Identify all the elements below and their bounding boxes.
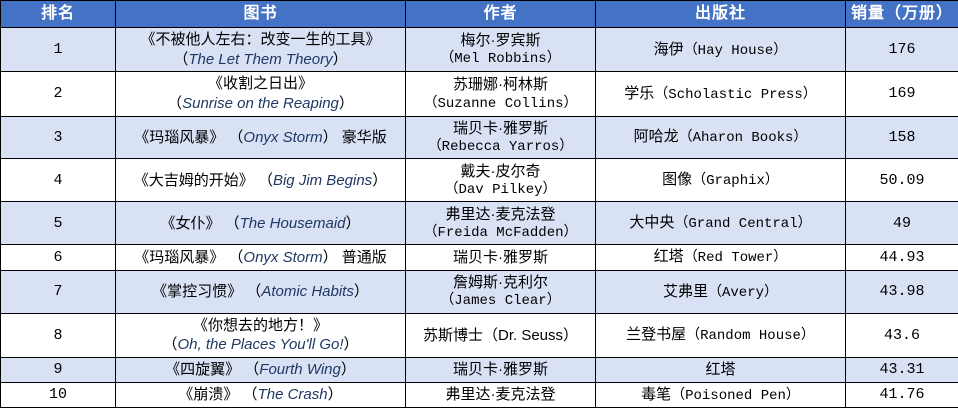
column-header-sales: 销量（万册） (846, 1, 958, 28)
cell-publisher: 兰登书屋（Random House） (596, 313, 846, 357)
publisher-name-cn: 学乐 (624, 85, 654, 102)
author-name-cn: 弗里达·麦克法登 (409, 205, 592, 225)
cell-book-title: 《玛瑙风暴》 （Onyx Storm） 豪华版 (116, 116, 406, 159)
author-name-cn: 戴夫·皮尔奇 (409, 162, 592, 182)
cell-publisher: 红塔 (596, 357, 846, 382)
english-title: The Housemaid (240, 215, 346, 232)
english-title: Onyx Storm (243, 249, 322, 266)
cell-book-title: 《你想去的地方！》（Oh, the Places You'll Go!） (116, 313, 406, 357)
table-row: 5《女仆》 （The Housemaid）弗里达·麦克法登（Freida McF… (1, 202, 958, 245)
author-name-en: （Rebecca Yarros） (409, 138, 592, 156)
author-name-en: （Mel Robbins） (409, 50, 592, 68)
english-title: The Crash (258, 386, 328, 403)
author-name-en: （Suzanne Collins） (409, 95, 592, 113)
publisher-name-cn: 阿哈龙 (634, 128, 679, 145)
cell-rank: 1 (1, 28, 116, 72)
publisher-name-cn: 红塔 (705, 361, 735, 378)
book-title-en: （Sunrise on the Reaping） (119, 94, 402, 114)
book-title-en: （The Housemaid） (220, 215, 360, 232)
book-title-en: （The Crash） (238, 386, 342, 403)
column-header-author: 作者 (406, 1, 596, 28)
publisher-name-cn: 艾弗里 (663, 283, 708, 300)
author-name-cn: 弗里达·麦克法登 (446, 386, 556, 403)
author-name-en: （James Clear） (409, 292, 592, 310)
cell-rank: 2 (1, 72, 116, 116)
cell-book-title: 《四旋翼》 （Fourth Wing） (116, 357, 406, 382)
table-row: 8《你想去的地方！》（Oh, the Places You'll Go!）苏斯博… (1, 313, 958, 357)
book-title-cn: 《四旋翼》 (165, 361, 240, 378)
author-name-cn: 瑞贝卡·雅罗斯 (453, 249, 548, 266)
table-header: 排名 图书 作者 出版社 销量（万册） (1, 1, 958, 28)
column-header-rank: 排名 (1, 1, 116, 28)
cell-book-title: 《玛瑙风暴》 （Onyx Storm） 普通版 (116, 245, 406, 270)
book-title-cn: 《掌控习惯》 (152, 283, 242, 300)
publisher-name-cn: 海伊 (654, 41, 684, 58)
cell-author: 戴夫·皮尔奇（Dav Pilkey） (406, 159, 596, 202)
cell-sales: 43.98 (846, 270, 958, 313)
author-name-cn: 瑞贝卡·雅罗斯 (453, 361, 548, 378)
book-title-en: （Onyx Storm） 普通版 (224, 249, 387, 266)
cell-rank: 4 (1, 159, 116, 202)
cell-sales: 44.93 (846, 245, 958, 270)
english-title: Fourth Wing (259, 361, 341, 378)
publisher-name-cn: 兰登书屋 (626, 326, 686, 343)
book-title-en: （The Let Them Theory） (119, 50, 402, 70)
table-row: 1《不被他人左右：改变一生的工具》（The Let Them Theory）梅尔… (1, 28, 958, 72)
cell-author: 瑞贝卡·雅罗斯 (406, 357, 596, 382)
english-title: Oh, the Places You'll Go! (177, 336, 343, 353)
cell-sales: 43.31 (846, 357, 958, 382)
cell-author: 梅尔·罗宾斯（Mel Robbins） (406, 28, 596, 72)
cell-author: 瑞贝卡·雅罗斯（Rebecca Yarros） (406, 116, 596, 159)
cell-author: 瑞贝卡·雅罗斯 (406, 245, 596, 270)
cell-rank: 6 (1, 245, 116, 270)
cell-book-title: 《崩溃》 （The Crash） (116, 382, 406, 407)
cell-sales: 50.09 (846, 159, 958, 202)
column-header-publisher: 出版社 (596, 1, 846, 28)
publisher-name-en: （Scholastic Press） (654, 87, 816, 103)
cell-sales: 158 (846, 116, 958, 159)
bestseller-book-table: 排名 图书 作者 出版社 销量（万册） 1《不被他人左右：改变一生的工具》（Th… (0, 0, 958, 408)
publisher-name-cn: 红塔 (654, 248, 684, 265)
publisher-name-en: （Red Tower） (684, 250, 788, 266)
publisher-name-en: （Aharon Books） (679, 130, 808, 146)
english-title: Sunrise on the Reaping (182, 95, 339, 112)
cell-author: 苏珊娜·柯林斯（Suzanne Collins） (406, 72, 596, 116)
cell-publisher: 海伊（Hay House） (596, 28, 846, 72)
cell-book-title: 《掌控习惯》 （Atomic Habits） (116, 270, 406, 313)
table-row: 7《掌控习惯》 （Atomic Habits）詹姆斯·克利尔（James Cle… (1, 270, 958, 313)
cell-author: 弗里达·麦克法登 (406, 382, 596, 407)
cell-author: 苏斯博士（Dr. Seuss） (406, 313, 596, 357)
table-row: 10《崩溃》 （The Crash）弗里达·麦克法登毒笔（Poisoned Pe… (1, 382, 958, 407)
publisher-name-cn: 大中央 (629, 214, 674, 231)
book-title-en: （Onyx Storm） 豪华版 (224, 129, 387, 146)
book-title-cn: 《玛瑙风暴》 (134, 129, 224, 146)
cell-sales: 49 (846, 202, 958, 245)
author-name-cn: 梅尔·罗宾斯 (409, 31, 592, 51)
english-title: The Let Them Theory (188, 51, 332, 68)
cell-rank: 8 (1, 313, 116, 357)
english-title: Onyx Storm (243, 129, 322, 146)
cell-publisher: 图像（Graphix） (596, 159, 846, 202)
author-name-en: （Freida McFadden） (409, 224, 592, 242)
cell-book-title: 《女仆》 （The Housemaid） (116, 202, 406, 245)
cell-sales: 169 (846, 72, 958, 116)
cell-sales: 43.6 (846, 313, 958, 357)
publisher-name-en: （Grand Central） (674, 216, 811, 232)
table-row: 6《玛瑙风暴》 （Onyx Storm） 普通版瑞贝卡·雅罗斯红塔（Red To… (1, 245, 958, 270)
cell-publisher: 毒笔（Poisoned Pen） (596, 382, 846, 407)
cell-publisher: 大中央（Grand Central） (596, 202, 846, 245)
cell-rank: 10 (1, 382, 116, 407)
cell-sales: 41.76 (846, 382, 958, 407)
publisher-name-en: （Random House） (686, 328, 815, 344)
table-row: 2《收割之日出》（Sunrise on the Reaping）苏珊娜·柯林斯（… (1, 72, 958, 116)
author-name-cn: 詹姆斯·克利尔 (409, 273, 592, 293)
author-name-cn: 瑞贝卡·雅罗斯 (409, 119, 592, 139)
book-title-en: （Oh, the Places You'll Go!） (119, 335, 402, 355)
book-title-cn: 《女仆》 (160, 215, 220, 232)
header-row: 排名 图书 作者 出版社 销量（万册） (1, 1, 958, 28)
cell-publisher: 学乐（Scholastic Press） (596, 72, 846, 116)
book-title-en: （Big Jim Begins） (254, 172, 387, 189)
cell-author: 弗里达·麦克法登（Freida McFadden） (406, 202, 596, 245)
table-row: 3《玛瑙风暴》 （Onyx Storm） 豪华版瑞贝卡·雅罗斯（Rebecca … (1, 116, 958, 159)
cell-book-title: 《收割之日出》（Sunrise on the Reaping） (116, 72, 406, 116)
table-row: 9《四旋翼》 （Fourth Wing）瑞贝卡·雅罗斯红塔43.31 (1, 357, 958, 382)
publisher-name-en: （Graphix） (692, 173, 779, 189)
book-title-cn: 《你想去的地方！》 (119, 316, 402, 336)
cell-author: 詹姆斯·克利尔（James Clear） (406, 270, 596, 313)
english-title: Atomic Habits (261, 283, 354, 300)
cell-book-title: 《不被他人左右：改变一生的工具》（The Let Them Theory） (116, 28, 406, 72)
book-title-cn: 《大吉姆的开始》 (134, 172, 254, 189)
cell-publisher: 艾弗里（Avery） (596, 270, 846, 313)
publisher-name-en: （Hay House） (684, 43, 788, 59)
publisher-name-en: （Avery） (708, 285, 778, 301)
book-title-cn: 《收割之日出》 (119, 74, 402, 94)
publisher-name-cn: 图像 (662, 171, 692, 188)
cell-publisher: 阿哈龙（Aharon Books） (596, 116, 846, 159)
author-name-en: （Dav Pilkey） (409, 181, 592, 199)
author-name-cn: 苏斯博士（Dr. Seuss） (423, 327, 578, 344)
book-title-en: （Atomic Habits） (242, 283, 369, 300)
book-title-en: （Fourth Wing） (240, 361, 356, 378)
table-row: 4《大吉姆的开始》 （Big Jim Begins）戴夫·皮尔奇（Dav Pil… (1, 159, 958, 202)
cell-rank: 5 (1, 202, 116, 245)
book-title-cn: 《不被他人左右：改变一生的工具》 (119, 30, 402, 50)
cell-rank: 9 (1, 357, 116, 382)
publisher-name-cn: 毒笔 (641, 386, 671, 403)
cell-publisher: 红塔（Red Tower） (596, 245, 846, 270)
author-name-cn: 苏珊娜·柯林斯 (409, 75, 592, 95)
cell-rank: 7 (1, 270, 116, 313)
english-title: Big Jim Begins (273, 172, 372, 189)
table-body: 1《不被他人左右：改变一生的工具》（The Let Them Theory）梅尔… (1, 28, 958, 408)
cell-sales: 176 (846, 28, 958, 72)
book-title-cn: 《玛瑙风暴》 (134, 249, 224, 266)
publisher-name-en: （Poisoned Pen） (671, 388, 800, 404)
cell-book-title: 《大吉姆的开始》 （Big Jim Begins） (116, 159, 406, 202)
book-title-cn: 《崩溃》 (178, 386, 238, 403)
column-header-book: 图书 (116, 1, 406, 28)
cell-rank: 3 (1, 116, 116, 159)
